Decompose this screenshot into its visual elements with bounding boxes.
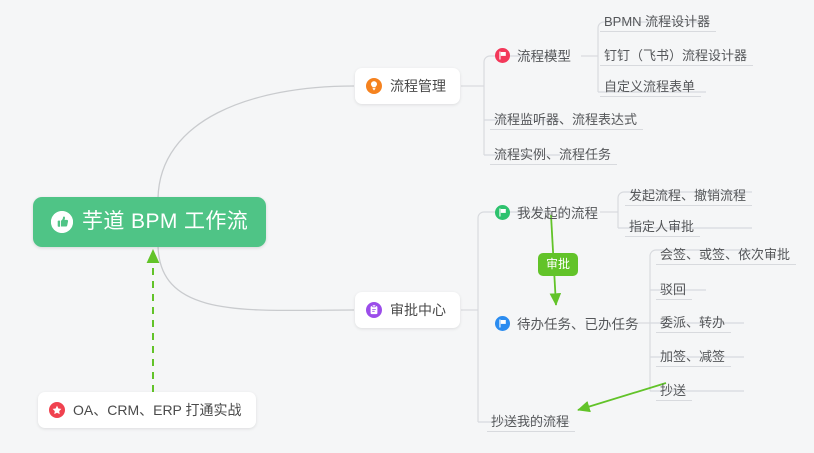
node-label: 我发起的流程	[517, 202, 598, 222]
root-label: 芋道 BPM 工作流	[82, 197, 248, 247]
clipboard-icon	[366, 302, 382, 318]
flag-icon	[495, 316, 510, 331]
leaf-custom-form[interactable]: 自定义流程表单	[600, 76, 701, 97]
branch-node-approval-center[interactable]: 审批中心	[355, 292, 460, 328]
leaf-start-cancel-process[interactable]: 发起流程、撤销流程	[625, 185, 752, 206]
leaf-dingtalk-designer[interactable]: 钉钉（飞书）流程设计器	[600, 45, 753, 66]
leaf-add-remove-sign[interactable]: 加签、减签	[656, 346, 731, 367]
floating-node-label: OA、CRM、ERP 打通实战	[73, 400, 242, 420]
star-icon	[49, 402, 65, 418]
leaf-delegate-transfer[interactable]: 委派、转办	[656, 312, 731, 333]
node-label: 待办任务、已办任务	[517, 313, 639, 333]
branch-node-process-management[interactable]: 流程管理	[355, 68, 460, 104]
branch-label: 审批中心	[390, 300, 446, 320]
node-process-model[interactable]: 流程模型	[495, 44, 575, 66]
leaf-cc-to-me[interactable]: 抄送我的流程	[487, 411, 575, 432]
annotation-badge-approval: 审批	[538, 253, 578, 276]
node-my-started-processes[interactable]: 我发起的流程	[495, 201, 602, 223]
node-label: 流程模型	[517, 45, 571, 65]
leaf-bpmn-designer[interactable]: BPMN 流程设计器	[600, 11, 716, 32]
thumbs-up-icon	[51, 211, 73, 233]
annotation-arrow-cc	[578, 383, 666, 410]
leaf-process-listener[interactable]: 流程监听器、流程表达式	[490, 109, 643, 130]
floating-node-integration[interactable]: OA、CRM、ERP 打通实战	[38, 392, 256, 428]
leaf-assignee-approval[interactable]: 指定人审批	[625, 216, 700, 237]
root-node[interactable]: 芋道 BPM 工作流	[33, 197, 266, 247]
flag-icon	[495, 48, 510, 63]
leaf-process-instance[interactable]: 流程实例、流程任务	[490, 144, 617, 165]
mindmap-canvas: 芋道 BPM 工作流 流程管理 流程模型 BPMN 流程设计器 钉钉（飞书）流程…	[0, 0, 814, 453]
branch-label: 流程管理	[390, 76, 446, 96]
leaf-countersign[interactable]: 会签、或签、依次审批	[656, 244, 796, 265]
flag-icon	[495, 205, 510, 220]
leaf-reject[interactable]: 驳回	[656, 279, 692, 300]
lightbulb-icon	[366, 78, 382, 94]
leaf-cc[interactable]: 抄送	[656, 380, 692, 401]
node-todo-done-tasks[interactable]: 待办任务、已办任务	[495, 312, 643, 334]
